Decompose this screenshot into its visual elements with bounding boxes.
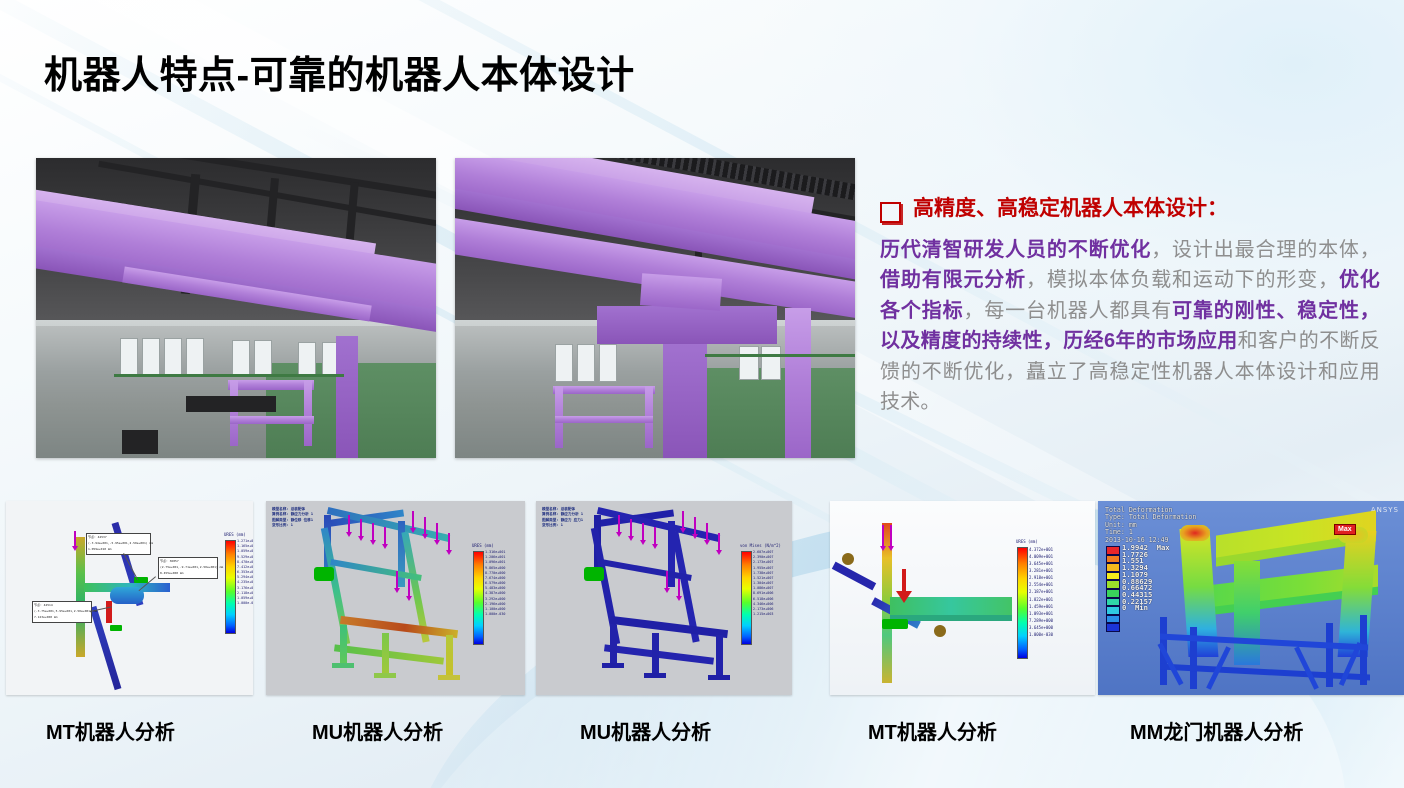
callout-run-0: 历代清智研发人员的不断优化: [880, 239, 1151, 261]
mu2-load-arrow-2: [630, 519, 632, 537]
mu2-foot-2: [644, 673, 666, 678]
callout-heading: 高精度、高稳定机器人本体设计：: [913, 196, 1228, 222]
mt1-callout-2-value: 7.123e+000 mm: [34, 615, 57, 619]
mu1-leg-3: [446, 635, 453, 677]
mt1-force-arrow-red: [106, 601, 112, 623]
ansys-legend-swatch-8: [1106, 615, 1120, 624]
photo-window-5: [232, 340, 250, 376]
photo-floor-green-lane: [685, 368, 855, 458]
ansys-legend-color-swatches: [1106, 546, 1120, 632]
mu1-legend-title: URES (mm): [472, 543, 494, 548]
photo-window-4: [739, 346, 759, 380]
mu2-bottom-rail-2: [604, 644, 714, 664]
mt1-fixture-b: [110, 625, 122, 631]
photo-window-1: [120, 338, 138, 376]
caption-mu-robot-2: MU机器人分析: [580, 716, 711, 745]
fea-panel-mt-robot-2: URES (mm) 4.372e+001 4.009e+001 3.645e+0…: [830, 501, 1095, 695]
photo-window-7: [298, 342, 316, 376]
mt2-fixture-group: [882, 619, 908, 629]
photo-window-2: [142, 338, 160, 376]
photo-window-3: [599, 344, 617, 382]
photo-gantry-cart: [228, 380, 314, 390]
mt2-force-arrow-red-head: [896, 591, 912, 603]
photo-gantry-column: [663, 344, 707, 458]
photo-window-2: [577, 344, 595, 382]
photo-gantry-saddle-top: [640, 273, 722, 311]
mu1-load-arrow-1: [348, 515, 350, 533]
photo-safety-fence: [114, 374, 344, 377]
photo-window-1: [555, 344, 573, 382]
mu1-foot-1: [332, 663, 354, 668]
mt2-legend-values: 4.372e+001 4.009e+001 3.645e+001 3.281e+…: [1029, 546, 1053, 638]
callout-run-1: ，设计出最合理的本体，: [1151, 239, 1380, 261]
mu2-load-arrow-8: [718, 533, 720, 551]
mu2-load-arrow-9: [666, 571, 668, 589]
photo-machine-bed: [186, 396, 276, 412]
photo-gantry-cart-frame-2: [304, 380, 312, 446]
mt2-end-cap-left: [842, 553, 854, 565]
mu1-bottom-rail: [340, 616, 458, 638]
mt1-callout-0-title: 节点: 44537: [88, 535, 107, 539]
photo-window-5: [761, 346, 781, 380]
photo-window-3: [164, 338, 182, 376]
mt2-load-arrow-down-2: [890, 525, 892, 547]
mu2-foot-3: [708, 675, 730, 680]
callout-run-5: ，每一台机器人都具有: [963, 300, 1172, 322]
caption-mt-robot-2: MT机器人分析: [868, 716, 997, 745]
mu1-load-arrow-4: [384, 527, 386, 545]
mu2-load-arrow-5: [682, 511, 684, 529]
mu1-leg-2: [382, 633, 389, 675]
photo-gantry-cart-frame: [230, 380, 238, 446]
photo-cart-frame: [553, 386, 655, 394]
mt1-callout-1-value: 8.455e+000 mm: [160, 571, 183, 575]
mt1-callout-1-position: (2.75e+001,-9.71e+001,2.50e+001) mm: [160, 565, 223, 569]
mu2-leg-1: [610, 625, 617, 665]
mu2-foot-1: [602, 663, 624, 668]
fea-panel-mu-robot-stress: 模型名称: 总装配体 算例名称: 静应力分析 1 图解类型: 静应力 应力1 变…: [536, 501, 792, 695]
gantry-hub-left: [1180, 525, 1210, 541]
ansys-legend-swatch-7: [1106, 606, 1120, 615]
mu2-legend-color-bar: [741, 551, 752, 645]
mt2-legend-color-bar: [1017, 547, 1028, 659]
mu2-load-arrow-1: [618, 515, 620, 533]
mt2-diagonal-arm: [832, 562, 876, 591]
mu2-load-arrow-6: [694, 517, 696, 535]
mt2-end-cap-right: [934, 625, 946, 637]
mu2-legend-values: 2.607e+007 2.390e+007 2.173e+007 1.955e+…: [753, 550, 773, 617]
mu2-load-arrow-4: [654, 527, 656, 545]
mu1-load-arrow-3: [372, 523, 374, 541]
mt2-beam-shadow: [890, 615, 1012, 621]
photo-window-4: [186, 338, 204, 376]
ansys-legend-swatch-0: [1106, 546, 1120, 555]
ansys-legend-swatch-4: [1106, 580, 1120, 589]
gantry-column-right: [1338, 531, 1377, 657]
mu2-bottom-rail: [610, 616, 728, 638]
mu1-legend-values: 1.316e+001 1.206e+001 1.096e+001 9.865e+…: [485, 550, 505, 617]
mu2-load-arrow-10: [678, 579, 680, 597]
photo-gantry-saddle: [597, 306, 777, 344]
ansys-legend-swatch-3: [1106, 572, 1120, 581]
mu2-load-arrow-7: [706, 523, 708, 541]
callout-run-2: 借助有限元分析: [880, 269, 1026, 291]
ansys-legend-swatch-1: [1106, 555, 1120, 564]
mu1-load-arrow-6: [424, 517, 426, 535]
photo-monitor: [122, 430, 158, 454]
mt1-callout-2-position: (-3.75e+001,5.95e+001,2.50e+001) mm: [34, 609, 97, 613]
photo-cart-shelf: [555, 416, 653, 423]
caption-mm-gantry-robot: MM龙门机器人分析: [1130, 716, 1303, 745]
page-title: 机器人特点-可靠的机器人本体设计: [44, 44, 635, 99]
mt2-legend-title: URES (mm): [1016, 539, 1038, 544]
mt1-callout-0-position: (-3.94e+001,-5.95e+001,2.50e+001) mm: [88, 541, 153, 545]
photo-gantry-cart-shelf: [230, 416, 314, 424]
ansys-legend-swatch-5: [1106, 589, 1120, 598]
base-frame-diag-3: [1294, 646, 1319, 690]
photo-gantry-column: [336, 336, 358, 458]
max-annotation-tag: Max: [1334, 524, 1356, 535]
gantry-column-center: [1234, 561, 1260, 665]
ansys-legend-swatch-9: [1106, 623, 1120, 632]
mu1-load-arrow-2: [360, 519, 362, 537]
mu2-fixture-group: [584, 567, 604, 581]
photo-gantry-column-right: [785, 308, 811, 458]
mu2-legend-title: von Mises (N/m^2): [740, 543, 781, 548]
mu1-load-arrow-7: [436, 523, 438, 541]
mu1-bottom-rail-2: [334, 644, 444, 664]
caption-mt-robot-1: MT机器人分析: [46, 716, 175, 745]
photo-window-6: [254, 340, 272, 376]
mu1-load-arrow-8: [448, 533, 450, 551]
mu1-leg-1: [340, 625, 347, 665]
mu1-load-arrow-10: [408, 579, 410, 597]
mt1-callout-2-title: 节点: 44514: [34, 603, 53, 607]
mt1-callout-1-title: 节点: 36857: [160, 559, 179, 563]
mu1-fixture-group: [314, 567, 334, 581]
fea-panel-mm-gantry-robot: Total Deformation Type: Total Deformatio…: [1098, 501, 1404, 695]
callout-heading-row: 高精度、高稳定机器人本体设计：: [880, 196, 1380, 223]
mt1-load-arrow-up: [74, 531, 76, 547]
mu1-load-arrow-9: [396, 571, 398, 589]
mu2-load-arrow-3: [642, 523, 644, 541]
mt2-load-arrow-down-1: [882, 525, 884, 547]
mt1-legend-values: 1.271e+001 1.165e+001 1.059e+001 9.529e+…: [237, 539, 253, 606]
ansys-legend-swatch-2: [1106, 563, 1120, 572]
mu2-meta-text: 模型名称: 总装配体 算例名称: 静应力分析 1 图解类型: 静应力 应力1 变…: [542, 507, 583, 529]
mu1-load-arrow-5: [412, 511, 414, 529]
ansys-legend-values: 1.9942 Max 1.7726 1.551 1.3294 1.1079 0.…: [1122, 545, 1170, 612]
square-bullet-icon: [880, 202, 901, 223]
mt1-callout-0-value: 1.059e+010 mm: [88, 547, 111, 551]
fea-panel-mu-robot-displacement: 模型名称: 总装配体 算例名称: 静应力分析 1 图解类型: 静位移 位移1 变…: [266, 501, 525, 695]
mu1-foot-3: [438, 675, 460, 680]
mt1-vertical-column: [76, 537, 85, 657]
factory-gantry-photo-right: [455, 158, 855, 458]
mu2-leg-2: [652, 633, 659, 675]
callout-text-block: 高精度、高稳定机器人本体设计： 历代清智研发人员的不断优化，设计出最合理的本体，…: [880, 196, 1380, 417]
mu2-leg-3: [716, 635, 723, 677]
mt1-legend-title: URES (mm): [224, 532, 246, 537]
caption-mu-robot-1: MU机器人分析: [312, 716, 443, 745]
ansys-legend-swatch-6: [1106, 598, 1120, 607]
factory-gantry-photo-left: [36, 158, 436, 458]
callout-paragraph: 历代清智研发人员的不断优化，设计出最合理的本体，借助有限元分析，模拟本体负载和运…: [880, 235, 1380, 417]
mu1-meta-text: 模型名称: 总装配体 算例名称: 静应力分析 1 图解类型: 静位移 位移1 变…: [272, 507, 313, 529]
mt1-legend-color-bar: [225, 540, 236, 634]
callout-run-3: ，模拟本体负载和运动下的形变，: [1026, 269, 1339, 291]
photo-safety-fence: [705, 354, 855, 357]
fea-panel-mt-robot-1: URES (mm) 1.271e+001 1.165e+001 1.059e+0…: [6, 501, 253, 695]
mu1-legend-color-bar: [473, 551, 484, 645]
mu1-foot-2: [374, 673, 396, 678]
